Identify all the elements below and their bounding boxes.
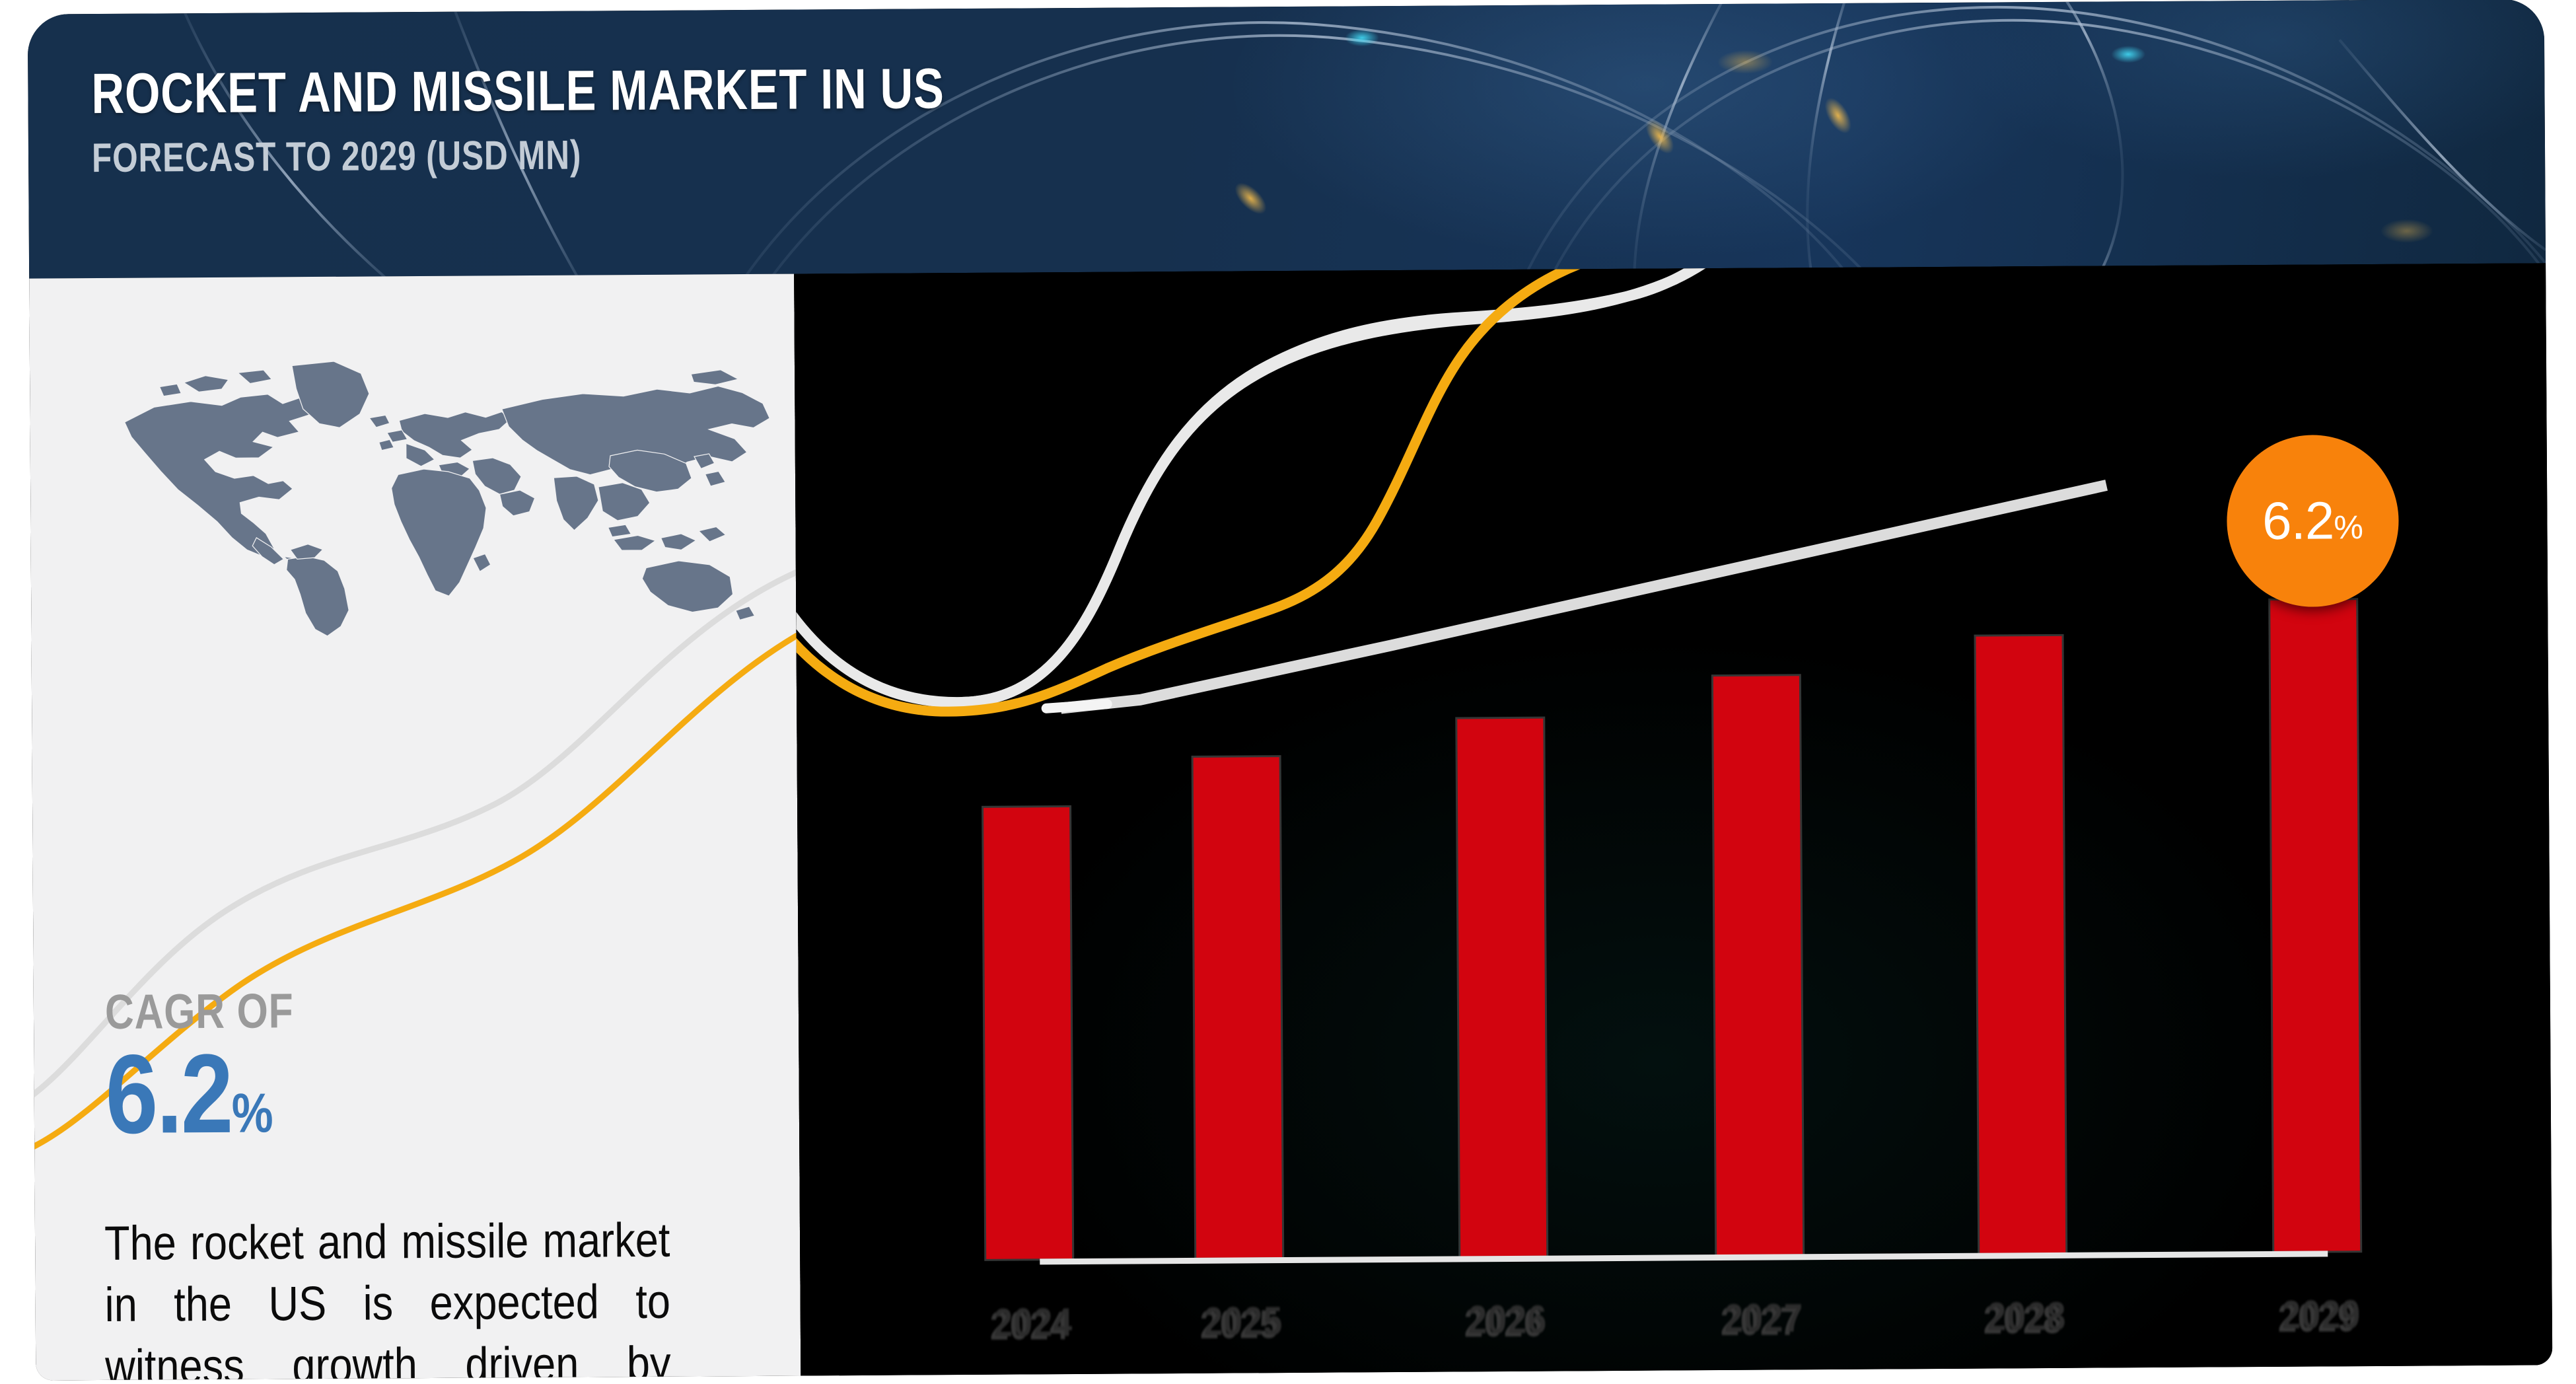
cagr-badge-percent: % xyxy=(2334,509,2363,546)
x-axis-label-2026: 2026 2026 xyxy=(1448,1300,1560,1346)
description-text: The rocket and missile market in the US … xyxy=(104,1210,672,1381)
bar-2029 xyxy=(2270,600,2360,1251)
header-band: ROCKET AND MISSILE MARKET IN US FORECAST… xyxy=(28,0,2546,279)
x-axis-label-2025: 2025 2025 xyxy=(1184,1301,1296,1348)
x-axis-label-2028: 2028 2028 xyxy=(1967,1297,2079,1343)
bar-2025 xyxy=(1194,757,1283,1258)
cagr-badge-number: 6.2 xyxy=(2262,491,2334,550)
cagr-value: 6.2% xyxy=(105,1043,273,1146)
infographic-canvas: ROCKET AND MISSILE MARKET IN US FORECAST… xyxy=(0,0,2576,1384)
x-axis-label-2024: 2024 2024 xyxy=(974,1303,1086,1349)
cagr-percent-sign: % xyxy=(232,1081,273,1144)
x-axis-label-2029: 2029 2029 xyxy=(2262,1295,2374,1341)
bar-2026 xyxy=(1457,719,1546,1257)
cagr-badge-text: 6.2% xyxy=(2262,490,2363,552)
chart-area: 2024 2024 2025 2025 2026 2026 2027 2027 … xyxy=(794,263,2552,1375)
bar-2027 xyxy=(1713,676,1803,1255)
page-subtitle: FORECAST TO 2029 (USD MN) xyxy=(92,133,945,179)
header-text-group: ROCKET AND MISSILE MARKET IN US FORECAST… xyxy=(91,59,1158,179)
cagr-number: 6.2 xyxy=(105,1031,232,1157)
page-title: ROCKET AND MISSILE MARKET IN US xyxy=(91,60,945,122)
bar-2028 xyxy=(1976,636,2066,1253)
left-info-panel: CAGR OF 6.2% The rocket and missile mark… xyxy=(29,274,801,1381)
infographic-card: ROCKET AND MISSILE MARKET IN US FORECAST… xyxy=(28,0,2553,1381)
x-axis-label-2027: 2027 2027 xyxy=(1704,1298,1816,1344)
cagr-badge: 6.2% xyxy=(2227,435,2400,608)
bar-2024 xyxy=(984,807,1072,1259)
